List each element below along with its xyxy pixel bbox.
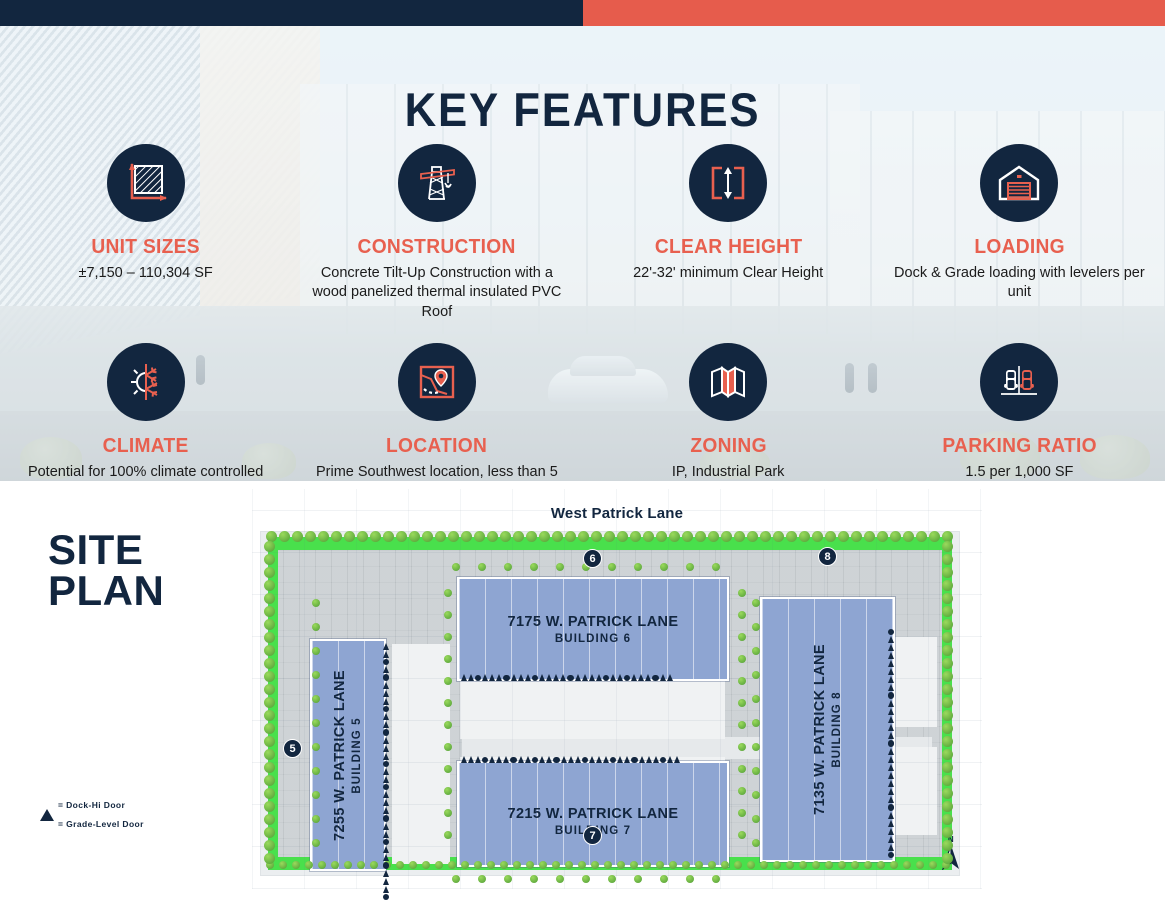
dock-hi-door-icon (667, 756, 673, 763)
dock-hi-door-icon (888, 748, 894, 755)
landscape-tree (608, 563, 616, 571)
dock-hi-door-icon (888, 772, 894, 779)
landscape-tree (264, 697, 275, 708)
dock-hi-door-icon (888, 812, 894, 819)
dock-hi-door-icon (518, 674, 524, 681)
top-bar-orange-block (583, 0, 1165, 26)
feature-description: ±7,150 – 110,304 SF (12, 264, 279, 283)
feature-label: LOADING (891, 236, 1148, 259)
landscape-tree (942, 554, 953, 565)
landscape-tree (604, 531, 615, 542)
landscape-tree (444, 699, 452, 707)
landscape-tree (656, 531, 667, 542)
dock-hi-door-icon (383, 886, 389, 893)
landscape-tree (504, 563, 512, 571)
landscape-tree (752, 791, 760, 799)
landscape-tree (942, 827, 953, 838)
landscape-tree (695, 861, 703, 869)
feature-zoning: ZONING IP, Industrial Park (583, 343, 874, 481)
dock-hi-door-icon (888, 716, 894, 723)
dock-hi-door-icon (383, 791, 389, 798)
building-5-doors (383, 643, 389, 900)
landscape-tree (942, 801, 953, 812)
dock-hi-door-icon (383, 807, 389, 814)
dock-hi-door-icon (888, 732, 894, 739)
grade-level-door-icon (888, 692, 894, 698)
dock-hi-door-icon (539, 756, 545, 763)
feature-description: IP, Industrial Park (595, 463, 862, 481)
landscape-tree (312, 839, 320, 847)
landscape-tree (312, 671, 320, 679)
landscape-tree (318, 861, 326, 869)
landscape-tree (370, 861, 378, 869)
key-features-grid: UNIT SIZES ±7,150 – 110,304 SF (0, 144, 1165, 481)
landscape-tree (942, 541, 953, 552)
top-bar-navy-block (0, 0, 583, 26)
landscape-tree (370, 531, 381, 542)
feature-description: Dock & Grade loading with levelers per u… (886, 264, 1153, 303)
landscape-tree (526, 861, 534, 869)
grade-level-door-icon (624, 675, 630, 681)
landscape-tree (312, 743, 320, 751)
dock-hi-door-icon (888, 644, 894, 651)
landscape-tree (812, 531, 823, 542)
landscape-tree (752, 767, 760, 775)
dock-hi-door-icon (383, 682, 389, 689)
landscape-tree (799, 531, 810, 542)
landscape-tree (396, 531, 407, 542)
landscape-tree (738, 589, 746, 597)
landscape-tree (617, 531, 628, 542)
key-features-row-two: CLIMATE Potential for 100% climate contr… (0, 343, 1165, 481)
grade-level-door-icon (383, 894, 389, 900)
landscape-tree (292, 531, 303, 542)
landscape-tree (461, 861, 469, 869)
landscape-tree (825, 861, 833, 869)
landscape-tree (264, 658, 275, 669)
dock-hi-door-icon (596, 756, 602, 763)
building-7-doors (461, 756, 680, 763)
building-5-label: 7255 W. PATRICK LANE BUILDING 5 (312, 641, 384, 869)
landscape-tree (435, 861, 443, 869)
landscape-tree (448, 861, 456, 869)
page-root: KEY FEATURES UNIT S (0, 0, 1165, 900)
landscape-tree (752, 623, 760, 631)
feature-description: Concrete Tilt-Up Construction with a woo… (303, 264, 570, 322)
feature-label: CLEAR HEIGHT (600, 236, 857, 259)
landscape-tree (435, 531, 446, 542)
landscape-tree (312, 599, 320, 607)
grade-level-door-icon (888, 804, 894, 810)
dock-hi-door-icon (383, 666, 389, 673)
landscape-tree (942, 606, 953, 617)
landscape-tree (396, 861, 404, 869)
feature-construction: CONSTRUCTION Concrete Tilt-Up Constructi… (291, 144, 582, 322)
dock-hi-door-icon (575, 674, 581, 681)
dock-hi-door-icon (539, 674, 545, 681)
landscape-tree (747, 531, 758, 542)
dock-hi-door-icon (546, 756, 552, 763)
dock-hi-door-icon (575, 756, 581, 763)
dock-hi-door-icon (888, 780, 894, 787)
grade-level-door-icon (482, 757, 488, 763)
landscape-tree (838, 531, 849, 542)
site-plan-title-line-one: SITE (48, 529, 164, 570)
landscape-tree (357, 861, 365, 869)
grade-level-door-icon (475, 675, 481, 681)
landscape-tree (942, 671, 953, 682)
landscape-tree (604, 861, 612, 869)
building-8-doors-north (888, 629, 894, 746)
dock-hi-door-icon (596, 674, 602, 681)
landscape-tree (264, 853, 275, 864)
dock-hi-door-icon (511, 674, 517, 681)
landscape-tree (738, 633, 746, 641)
landscape-tree (942, 580, 953, 591)
landscape-tree (752, 719, 760, 727)
landscape-tree (799, 861, 807, 869)
site-plan-title: SITE PLAN (48, 529, 164, 611)
dock-hi-door-icon (546, 674, 552, 681)
dock-hi-door-icon (383, 823, 389, 830)
grade-level-door-icon (383, 659, 389, 665)
landscape-tree (578, 861, 586, 869)
grade-level-door-icon (510, 757, 516, 763)
grade-level-door-icon (383, 706, 389, 712)
dock-hi-door-icon (646, 756, 652, 763)
grade-level-door-icon (532, 675, 538, 681)
landscape-tree (292, 861, 300, 869)
landscape-tree (331, 531, 342, 542)
landscape-tree (539, 861, 547, 869)
dock-hi-door-icon (589, 756, 595, 763)
feature-description: Prime Southwest location, less than 5 mi… (303, 463, 570, 481)
dock-hi-door-icon (888, 700, 894, 707)
dock-hi-door-icon (383, 831, 389, 838)
landscape-tree (942, 697, 953, 708)
building-marker-6[interactable]: 6 (583, 549, 602, 568)
landscape-tree (877, 861, 885, 869)
landscape-tree (942, 710, 953, 721)
dock-hi-door-icon (383, 698, 389, 705)
landscape-tree (864, 861, 872, 869)
building-marker-5[interactable]: 5 (283, 739, 302, 758)
feature-unit-sizes: UNIT SIZES ±7,150 – 110,304 SF (0, 144, 291, 322)
grade-level-door-icon (40, 818, 54, 830)
building-8-doors-south (888, 741, 894, 858)
landscape-tree (929, 531, 940, 542)
landscape-tree (942, 814, 953, 825)
landscape-tree (264, 788, 275, 799)
landscape-tree (942, 762, 953, 773)
landscape-tree (686, 563, 694, 571)
landscape-tree (357, 531, 368, 542)
dock-hi-door-icon (461, 674, 467, 681)
grade-level-door-icon (553, 757, 559, 763)
feature-label: LOCATION (309, 435, 566, 458)
landscape-tree (409, 861, 417, 869)
landscape-tree (305, 531, 316, 542)
landscape-tree (608, 875, 616, 883)
landscape-tree (721, 861, 729, 869)
dock-hi-door-icon (383, 745, 389, 752)
legend-item-dock-hi: = Dock-Hi Door (40, 799, 144, 811)
feature-location: LOCATION Prime Southwest location, less … (291, 343, 582, 481)
landscape-tree (500, 531, 511, 542)
landscape-tree (929, 861, 937, 869)
landscape-tree (444, 677, 452, 685)
landscape-tree (264, 619, 275, 630)
landscape-tree (422, 861, 430, 869)
landscape-tree (630, 861, 638, 869)
landscape-tree (264, 723, 275, 734)
landscape-tree (942, 567, 953, 578)
legend-item-grade-level: = Grade-Level Door (40, 818, 144, 830)
legend-label: = Grade-Level Door (58, 819, 144, 829)
grade-level-door-icon (383, 674, 389, 680)
landscape-tree (669, 531, 680, 542)
dock-hi-door-icon (468, 674, 474, 681)
landscape-tree (942, 645, 953, 656)
landscape-tree (734, 531, 745, 542)
landscape-tree (838, 861, 846, 869)
dock-hi-door-icon (888, 724, 894, 731)
dock-hi-door-icon (638, 674, 644, 681)
building-marker-7[interactable]: 7 (583, 826, 602, 845)
feature-description: 22'-32' minimum Clear Height (595, 264, 862, 283)
landscape-tree (513, 531, 524, 542)
landscape-tree (312, 623, 320, 631)
landscape-tree (738, 743, 746, 751)
truck-court-north (460, 679, 725, 739)
dock-hi-door-icon (525, 756, 531, 763)
landscape-tree (669, 861, 677, 869)
feature-clear-height: CLEAR HEIGHT 22'-32' minimum Clear Heigh… (583, 144, 874, 322)
dock-hi-door-icon (888, 836, 894, 843)
landscape-tree (312, 719, 320, 727)
building-name: BUILDING 5 (352, 717, 364, 793)
landscape-tree (773, 531, 784, 542)
landscape-tree (264, 606, 275, 617)
landscape-tree (942, 736, 953, 747)
landscape-tree (444, 655, 452, 663)
landscape-tree (643, 861, 651, 869)
dock-hi-door-icon (482, 674, 488, 681)
landscape-tree (530, 563, 538, 571)
landscape-tree (565, 531, 576, 542)
landscape-tree (738, 809, 746, 817)
dock-hi-door-icon (383, 651, 389, 658)
landscape-tree (738, 721, 746, 729)
dock-hi-door-icon (489, 674, 495, 681)
key-features-title: KEY FEATURES (41, 82, 1124, 137)
building-8[interactable]: 7135 W. PATRICK LANE BUILDING 8 (760, 597, 895, 862)
feature-label: ZONING (600, 435, 857, 458)
dock-hi-door-icon (888, 676, 894, 683)
landscape-tree (721, 531, 732, 542)
landscape-tree (634, 875, 642, 883)
dock-hi-door-icon (617, 756, 623, 763)
landscape-tree (851, 861, 859, 869)
top-accent-bar (0, 0, 1165, 26)
dock-hi-door-icon (888, 652, 894, 659)
unit-sizes-icon (107, 144, 185, 222)
landscape-tree (617, 861, 625, 869)
landscape-tree (444, 831, 452, 839)
landscape-tree (712, 563, 720, 571)
dock-hi-door-icon (888, 668, 894, 675)
building-name: BUILDING 6 (555, 633, 631, 645)
landscape-tree (264, 554, 275, 565)
landscape-tree (331, 861, 339, 869)
dock-hi-door-icon (383, 870, 389, 877)
landscape-tree (409, 531, 420, 542)
landscape-tree (461, 531, 472, 542)
landscape-tree (279, 861, 287, 869)
site-plan-map: West Patrick Lane 7 (252, 489, 982, 889)
landscape-tree (708, 531, 719, 542)
landscape-tree (578, 531, 589, 542)
landscape-tree (942, 775, 953, 786)
dock-hi-door-icon (888, 820, 894, 827)
landscape-tree (660, 563, 668, 571)
landscape-tree (916, 861, 924, 869)
landscape-tree (552, 531, 563, 542)
landscape-tree (344, 861, 352, 869)
parking-cars-icon (980, 343, 1058, 421)
grade-level-door-icon (567, 675, 573, 681)
warehouse-dock-icon (980, 144, 1058, 222)
dock-hi-door-icon (888, 796, 894, 803)
dock-hi-door-icon (617, 674, 623, 681)
grade-level-door-icon (532, 757, 538, 763)
building-8-label: 7135 W. PATRICK LANE BUILDING 8 (762, 599, 893, 860)
landscape-tree (942, 632, 953, 643)
landscape-tree (444, 765, 452, 773)
landscape-tree (695, 531, 706, 542)
landscape-tree (942, 684, 953, 695)
landscape-tree (851, 531, 862, 542)
landscape-tree (591, 531, 602, 542)
legend-label: = Dock-Hi Door (58, 800, 125, 810)
grade-level-door-icon (383, 761, 389, 767)
landscape-tree (738, 765, 746, 773)
dock-hi-door-icon (383, 799, 389, 806)
dock-hi-door-icon (496, 756, 502, 763)
building-name: BUILDING 8 (831, 691, 843, 767)
landscape-tree (660, 875, 668, 883)
crane-icon (398, 144, 476, 222)
grade-level-door-icon (652, 675, 658, 681)
landscape-tree (264, 580, 275, 591)
dock-hi-door-icon (610, 674, 616, 681)
dock-hi-door-icon (468, 756, 474, 763)
landscape-tree (942, 593, 953, 604)
landscape-tree (264, 645, 275, 656)
building-6-doors (461, 674, 673, 681)
landscape-tree (530, 875, 538, 883)
landscape-tree (474, 531, 485, 542)
landscape-tree (452, 563, 460, 571)
landscape-tree (752, 647, 760, 655)
landscape-tree (264, 736, 275, 747)
building-6[interactable]: 7175 W. PATRICK LANE BUILDING 6 (457, 577, 729, 681)
building-5[interactable]: 7255 W. PATRICK LANE BUILDING 5 (310, 639, 386, 871)
building-7[interactable]: 7215 W. PATRICK LANE BUILDING 7 (457, 761, 729, 867)
grade-level-door-icon (603, 675, 609, 681)
landscape-tree (738, 677, 746, 685)
building-6-label: 7175 W. PATRICK LANE BUILDING 6 (459, 579, 727, 679)
dock-hi-door-icon (888, 756, 894, 763)
grade-level-door-icon (888, 629, 894, 635)
dock-hi-door-icon (518, 756, 524, 763)
landscape-tree (264, 541, 275, 552)
landscape-tree (634, 563, 642, 571)
landscape-tree (513, 861, 521, 869)
site-plan-legend: = Dock-Hi Door = Grade-Level Door (40, 799, 144, 837)
grade-level-door-icon (582, 757, 588, 763)
landscape-tree (444, 721, 452, 729)
landscape-tree (890, 531, 901, 542)
landscape-tree (752, 671, 760, 679)
landscape-tree (942, 723, 953, 734)
dock-hi-door-icon (383, 846, 389, 853)
landscape-tree (630, 531, 641, 542)
landscape-tree (383, 531, 394, 542)
landscape-tree (556, 563, 564, 571)
landscape-tree (474, 861, 482, 869)
dock-hi-door-icon (589, 674, 595, 681)
dock-hi-door-icon (888, 708, 894, 715)
landscape-tree (504, 875, 512, 883)
building-marker-8[interactable]: 8 (818, 547, 837, 566)
landscape-tree (264, 749, 275, 760)
dock-hi-door-icon (888, 788, 894, 795)
landscape-tree (760, 531, 771, 542)
grade-level-door-icon (383, 815, 389, 821)
dock-hi-door-icon (603, 756, 609, 763)
landscape-tree (916, 531, 927, 542)
dock-hi-door-icon (525, 674, 531, 681)
key-features-row-one: UNIT SIZES ±7,150 – 110,304 SF (0, 144, 1165, 322)
feature-label: CONSTRUCTION (309, 236, 566, 259)
landscape-tree (556, 875, 564, 883)
landscape-tree (752, 743, 760, 751)
landscape-tree (682, 531, 693, 542)
dock-hi-door-icon (645, 674, 651, 681)
feature-label: PARKING RATIO (891, 435, 1148, 458)
dock-hi-door-icon (383, 643, 389, 650)
dock-hi-door-icon (40, 799, 54, 811)
folded-map-icon (689, 343, 767, 421)
landscape-tree (942, 749, 953, 760)
landscape-tree (773, 861, 781, 869)
dock-hi-door-icon (383, 878, 389, 885)
dock-hi-door-icon (888, 660, 894, 667)
landscape-tree (738, 787, 746, 795)
dock-hi-door-icon (383, 768, 389, 775)
landscape-tree (942, 619, 953, 630)
landscape-tree (312, 791, 320, 799)
landscape-tree (305, 861, 313, 869)
landscape-tree (264, 593, 275, 604)
landscape-tree (712, 875, 720, 883)
landscape-tree (264, 632, 275, 643)
building-address: 7135 W. PATRICK LANE (812, 644, 828, 815)
landscape-tree (264, 814, 275, 825)
dock-hi-door-icon (383, 854, 389, 861)
truck-court-building-eight-north (889, 637, 937, 727)
